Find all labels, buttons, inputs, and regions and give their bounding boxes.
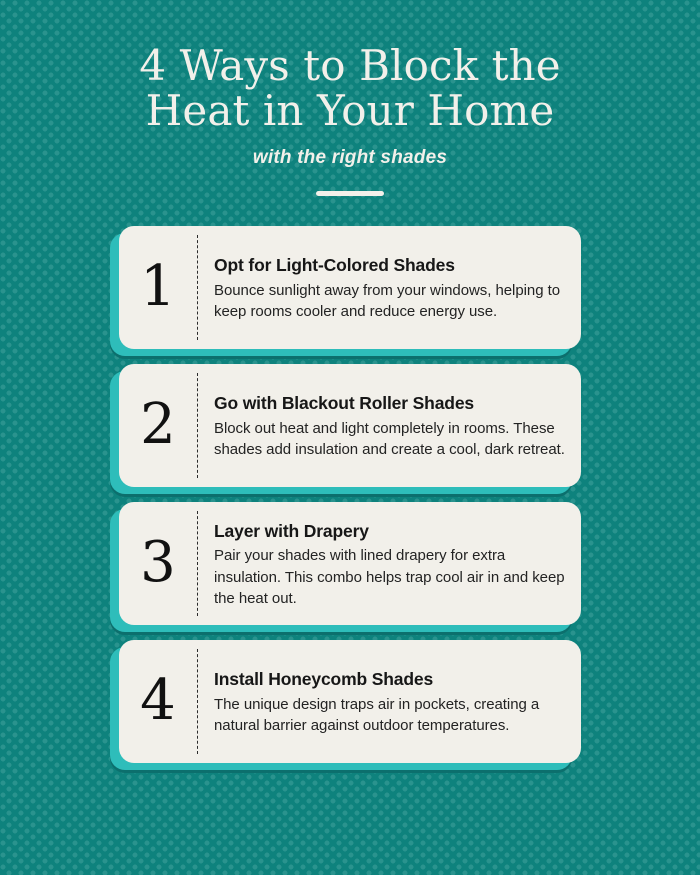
tip-card-4[interactable]: 4 Install Honeycomb Shades The unique de… [119,640,581,763]
tip-card-4-wrapper: 4 Install Honeycomb Shades The unique de… [119,640,581,763]
tip-card-2-number: 2 [140,397,176,453]
tip-card-2-wrapper: 2 Go with Blackout Roller Shades Block o… [119,364,581,487]
tip-card-3-text: Pair your shades with lined drapery for … [214,545,566,609]
tip-card-3-number: 3 [140,535,176,591]
tip-card-1-number-column: 1 [119,226,197,349]
header-block: 4 Ways to Block the Heat in Your Home wi… [0,0,700,196]
tip-card-2[interactable]: 2 Go with Blackout Roller Shades Block o… [119,364,581,487]
page-subtitle: with the right shades [0,147,700,169]
tip-card-4-heading: Install Honeycomb Shades [214,669,566,690]
page-title-line-1: 4 Ways to Block the [60,44,640,89]
page-title: 4 Ways to Block the Heat in Your Home [0,44,700,134]
tips-card-list: 1 Opt for Light-Colored Shades Bounce su… [0,226,700,763]
tip-card-1-body: Opt for Light-Colored Shades Bounce sunl… [198,226,581,349]
tip-card-3-body: Layer with Drapery Pair your shades with… [198,502,581,625]
tip-card-4-text: The unique design traps air in pockets, … [214,694,566,737]
tip-card-1-wrapper: 1 Opt for Light-Colored Shades Bounce su… [119,226,581,349]
page-title-line-2: Heat in Your Home [60,89,640,134]
tip-card-2-heading: Go with Blackout Roller Shades [214,393,566,414]
tip-card-4-number-column: 4 [119,640,197,763]
tip-card-3-heading: Layer with Drapery [214,521,566,542]
tip-card-1-number: 1 [140,259,176,315]
tip-card-4-body: Install Honeycomb Shades The unique desi… [198,640,581,763]
title-divider-rule [316,191,384,196]
tip-card-3-wrapper: 3 Layer with Drapery Pair your shades wi… [119,502,581,625]
tip-card-4-number: 4 [140,673,176,729]
tip-card-2-body: Go with Blackout Roller Shades Block out… [198,364,581,487]
tip-card-3-number-column: 3 [119,502,197,625]
tip-card-1-heading: Opt for Light-Colored Shades [214,255,566,276]
tip-card-2-text: Block out heat and light completely in r… [214,418,566,461]
tip-card-3[interactable]: 3 Layer with Drapery Pair your shades wi… [119,502,581,625]
infographic-page: 4 Ways to Block the Heat in Your Home wi… [0,0,700,875]
tip-card-1[interactable]: 1 Opt for Light-Colored Shades Bounce su… [119,226,581,349]
tip-card-1-text: Bounce sunlight away from your windows, … [214,280,566,323]
tip-card-2-number-column: 2 [119,364,197,487]
